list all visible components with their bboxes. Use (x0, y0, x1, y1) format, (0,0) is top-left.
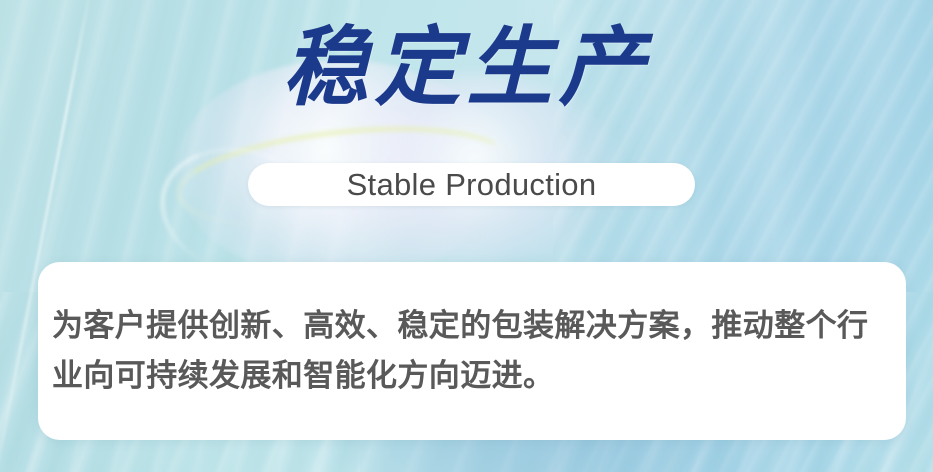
description-card: 为客户提供创新、高效、稳定的包装解决方案，推动整个行业向可持续发展和智能化方向迈… (38, 262, 906, 440)
page-title: 稳定生产 (0, 16, 933, 121)
subtitle-pill: Stable Production (248, 163, 695, 206)
stable-production-banner: 稳定生产 Stable Production 为客户提供创新、高效、稳定的包装解… (0, 0, 933, 472)
description-text: 为客户提供创新、高效、稳定的包装解决方案，推动整个行业向可持续发展和智能化方向迈… (52, 301, 892, 401)
subtitle-text: Stable Production (347, 169, 597, 200)
